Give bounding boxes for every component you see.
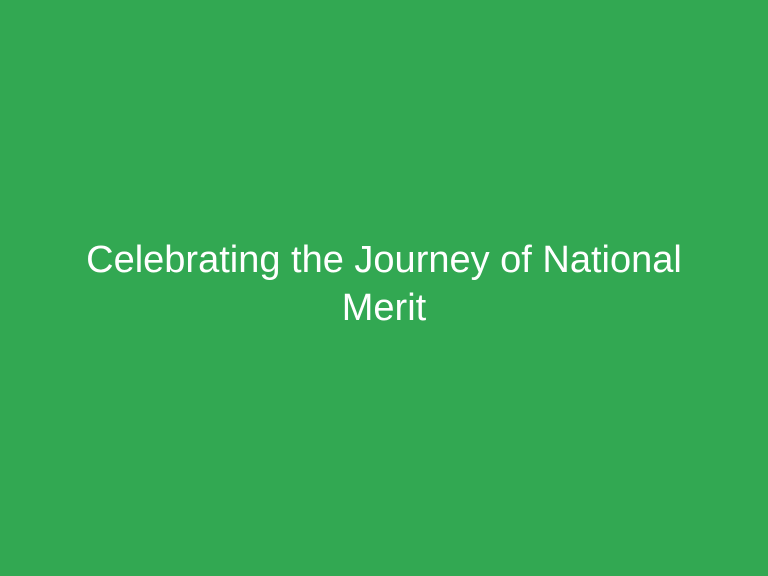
page-title: Celebrating the Journey of National Meri… — [72, 236, 696, 332]
banner-title-block: Celebrating the Journey of National Meri… — [72, 236, 696, 332]
banner-card: Celebrating the Journey of National Meri… — [0, 0, 768, 576]
